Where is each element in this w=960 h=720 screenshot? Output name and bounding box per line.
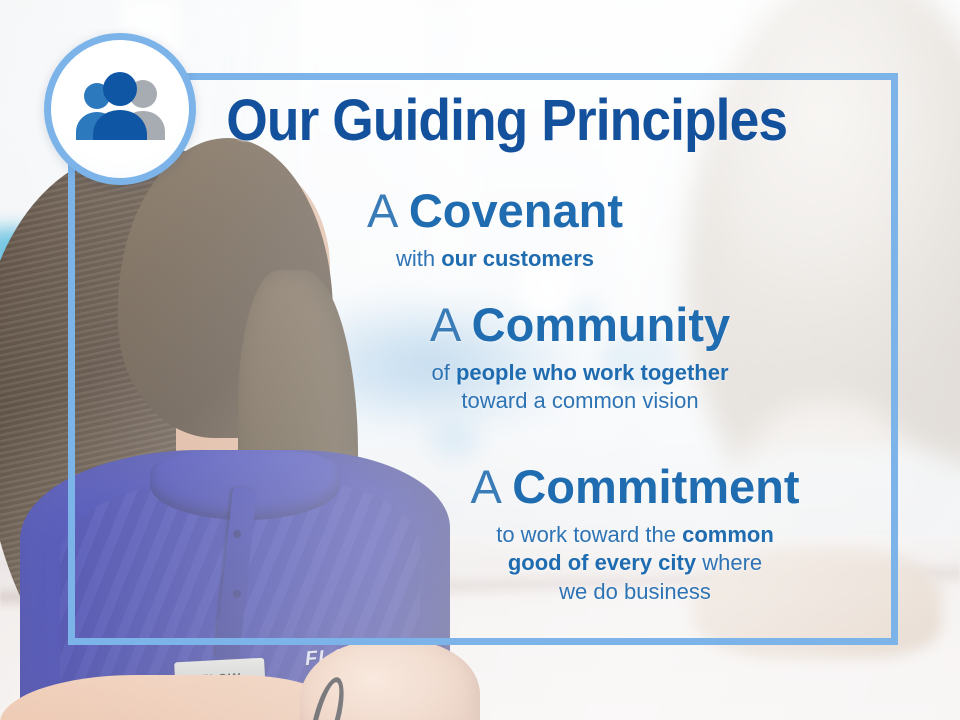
principle-keyword: Community [472,298,731,351]
principle-detail: to work toward the common good of every … [380,521,890,607]
detail-emphasis: good of every city [508,550,696,575]
principle-heading: A Community [320,300,840,350]
text-content: Our Guiding Principles A Covenant with o… [0,0,960,720]
principle-block-commitment: A Commitment to work toward the common g… [380,462,890,607]
principle-keyword: Covenant [409,184,623,237]
detail-text: to work toward the [496,522,682,547]
principle-article: A [430,298,459,351]
principle-detail: with our customers [260,245,730,274]
detail-text: where [696,550,762,575]
principle-article: A [470,460,499,513]
principle-detail: of people who work together toward a com… [320,359,840,416]
principle-keyword: Commitment [512,460,799,513]
guiding-principles-banner: FLOW FLOW Our Guiding Principles [0,0,960,720]
detail-emphasis: common [682,522,774,547]
principle-block-community: A Community of people who work together … [320,300,840,416]
principle-article: A [367,184,396,237]
detail-text: of [431,360,455,385]
principle-heading: A Commitment [380,462,890,512]
detail-text: toward a common vision [461,388,698,413]
detail-text: with [396,246,441,271]
detail-text: we do business [559,579,711,604]
page-title: Our Guiding Principles [38,92,921,150]
principle-block-covenant: A Covenant with our customers [260,186,730,273]
detail-emphasis: people who work together [456,360,729,385]
detail-emphasis: our customers [441,246,594,271]
principle-heading: A Covenant [260,186,730,236]
